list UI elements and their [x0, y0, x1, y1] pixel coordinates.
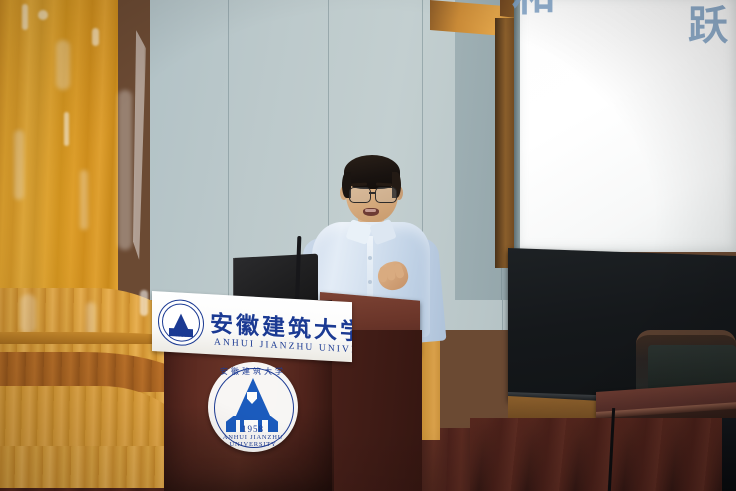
emblem-chinese-ring-text: 安徽建筑大学: [208, 366, 298, 377]
shirt-button: [368, 280, 372, 284]
slide-character-2: 跃: [688, 6, 728, 46]
foreground-dark-edge: [722, 418, 736, 491]
shirt-button: [368, 256, 372, 260]
projection-screen: 和 跃: [520, 0, 736, 252]
lecture-hall-photo: 和 跃: [0, 0, 736, 491]
glasses-bridge: [369, 192, 376, 194]
floor-right: [470, 418, 736, 491]
emblem-english-ring-text: ANHUI JIANZHU UNIVERSITY: [208, 434, 298, 448]
speaker-teeth: [365, 209, 376, 212]
nameplate-seal: 1958: [158, 298, 204, 347]
nameplate-seal-year: 1958: [159, 332, 203, 340]
glasses-lens-right: [375, 187, 397, 203]
podium-nameplate: 1958 安徽建筑大学 ANHUI JIANZHU UNIVERSITY: [152, 291, 352, 362]
wood-paneling-left-secondary: [112, 0, 160, 302]
wood-paneling-left: [0, 0, 118, 300]
glasses-lens-left: [349, 187, 371, 203]
emblem-year: 1958: [208, 424, 298, 434]
slide-character-1: 和: [512, 0, 556, 18]
